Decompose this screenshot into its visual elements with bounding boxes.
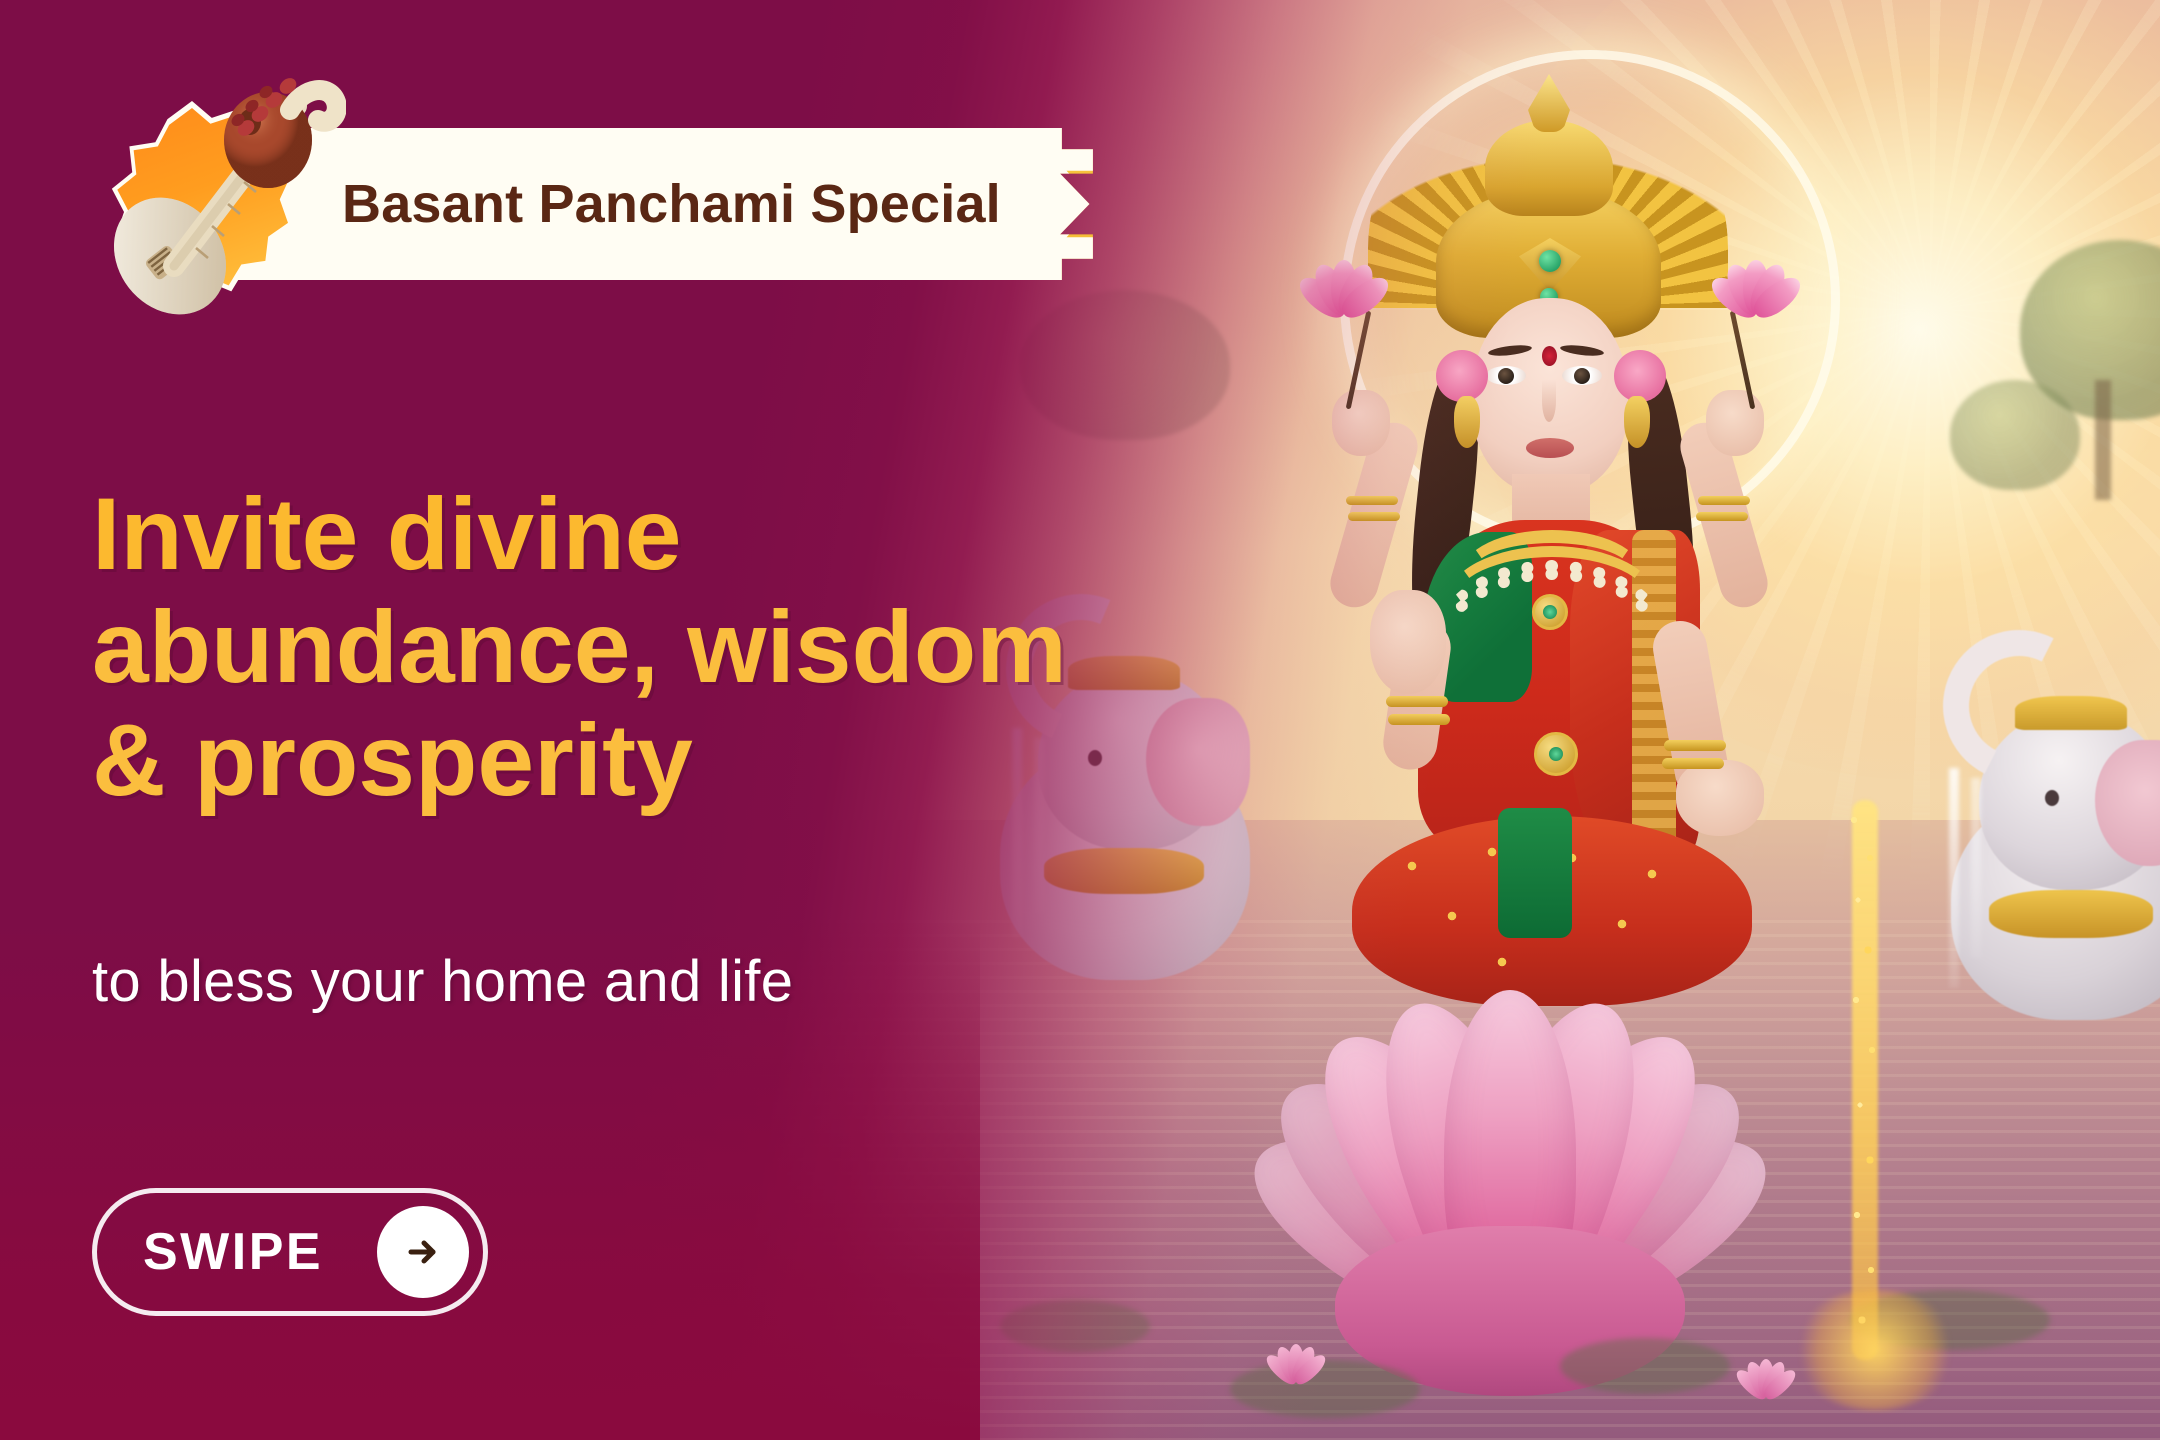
- subheadline: to bless your home and life: [92, 948, 793, 1015]
- veena-glyph: [78, 70, 346, 318]
- headline: Invite divine abundance, wisdom & prospe…: [92, 478, 1272, 818]
- badge-label: Basant Panchami Special: [342, 173, 1001, 235]
- special-badge: Basant Panchami Special: [96, 108, 1093, 300]
- headline-line-2: abundance, wisdom: [92, 591, 1272, 704]
- headline-line-3: & prosperity: [92, 704, 1272, 817]
- arrow-right-icon[interactable]: [377, 1206, 469, 1298]
- veena-instrument-icon: [96, 108, 288, 300]
- badge-pill: Basant Panchami Special: [230, 128, 1093, 280]
- content-layer: Basant Panchami Special Invite divine ab…: [0, 0, 2160, 1440]
- arrow-right-glyph: [400, 1229, 446, 1275]
- headline-line-1: Invite divine: [92, 478, 1272, 591]
- basant-panchami-promo-banner: Basant Panchami Special Invite divine ab…: [0, 0, 2160, 1440]
- swipe-button-label: SWIPE: [143, 1222, 323, 1282]
- swipe-button[interactable]: SWIPE: [92, 1188, 488, 1316]
